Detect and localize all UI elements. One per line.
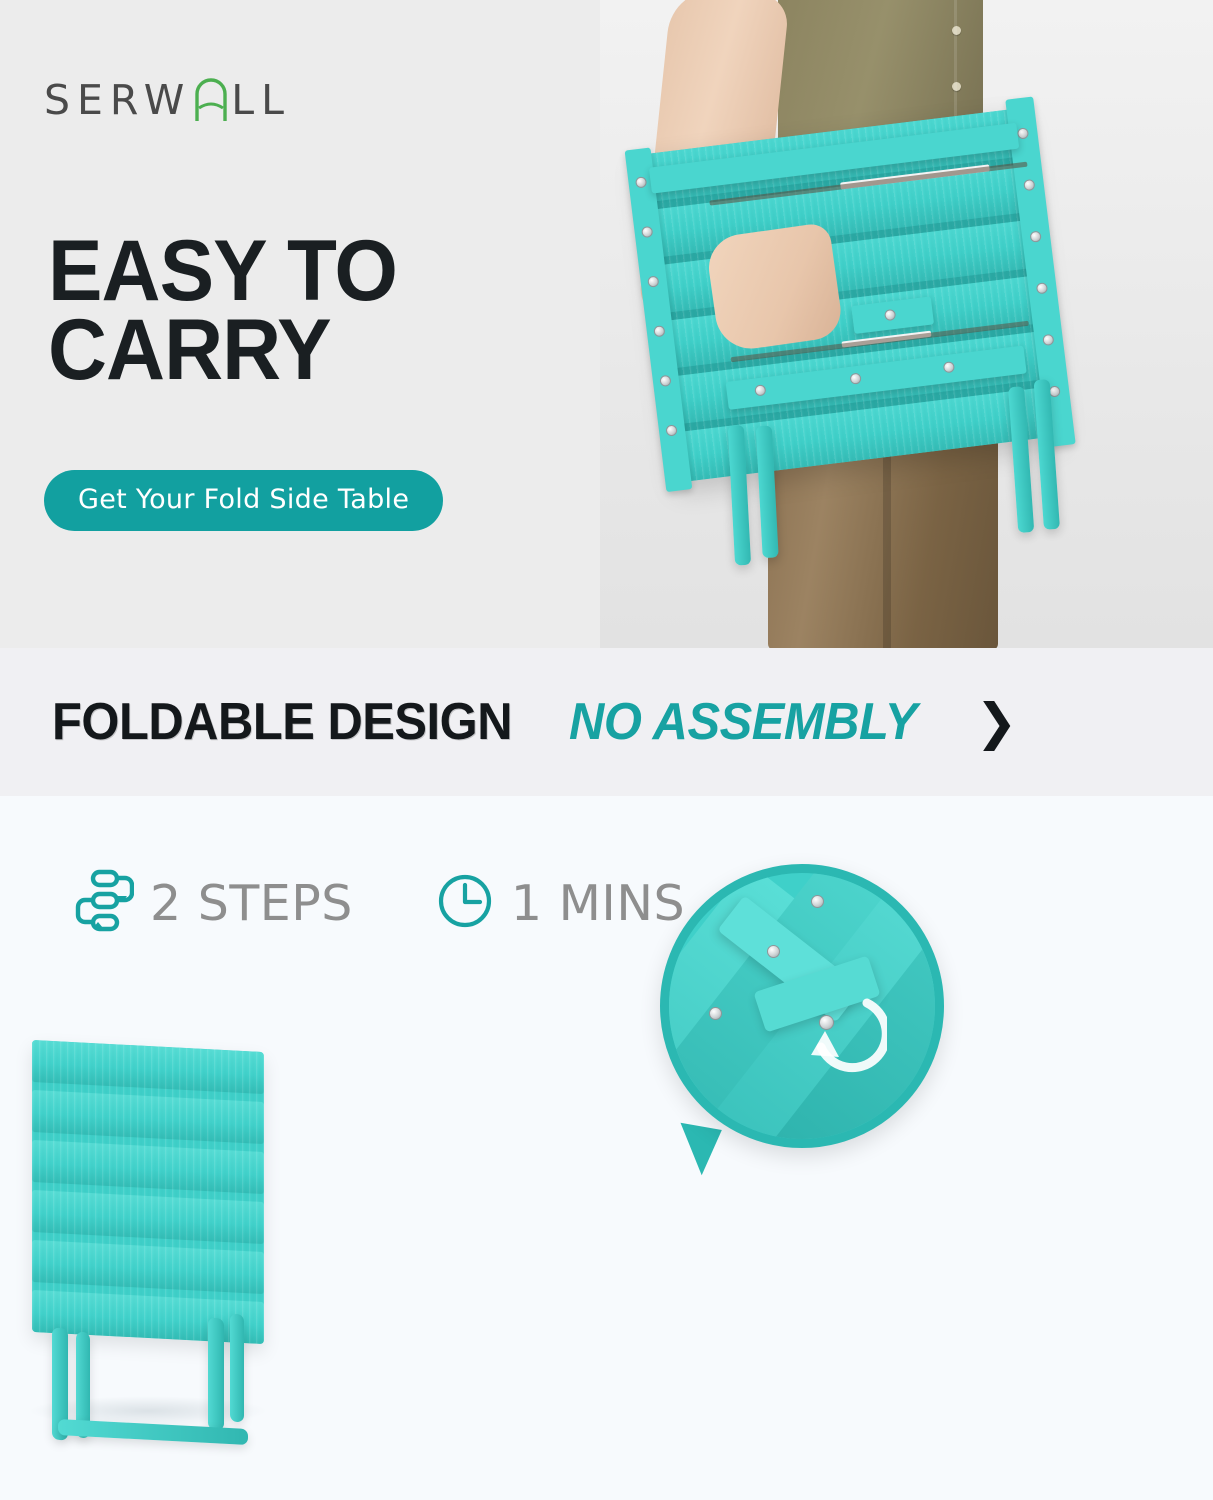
headline-line-2: CARRY [48,311,397,390]
stage-folded-table [18,1046,278,1416]
folded-leg [208,1317,224,1430]
arch-a-icon [193,78,229,122]
steps-section: 2 STEPS 1 MINS [0,796,1213,1500]
brand-logo[interactable]: SERW LL [44,78,291,121]
hero-headline: EASY TO CARRY [48,232,397,390]
metric-time: 1 MINS [435,871,685,936]
brand-logo-text-right: LL [231,80,291,121]
product-marketing-image: SERW LL EASY TO CARRY Get Your Fold Side… [0,0,1213,1500]
chevron-right-icon[interactable]: ❯ [975,697,1017,747]
hero-section: SERW LL EASY TO CARRY Get Your Fold Side… [0,0,1213,648]
rotate-arrow-icon [795,985,887,1077]
foldable-design-banner: FOLDABLE DESIGN NO ASSEMBLY ❯ [0,648,1213,796]
pivot-lock-callout [660,864,944,1148]
folded-leg [230,1314,244,1423]
clock-icon [435,871,495,936]
steps-flow-icon [72,868,134,939]
banner-bold-text: FOLDABLE DESIGN [52,692,512,752]
hero-photo [600,0,1213,648]
metrics-row: 2 STEPS 1 MINS [72,868,685,939]
metric-steps-label: 2 STEPS [150,875,353,932]
shirt-button [952,26,961,35]
banner-italic-text: NO ASSEMBLY [569,692,917,752]
headline-line-1: EASY TO [48,232,397,311]
cta-button[interactable]: Get Your Fold Side Table [44,470,443,531]
folded-table-hero [600,82,1127,608]
metric-steps: 2 STEPS [72,868,353,939]
brand-logo-text-left: SERW [44,80,191,121]
callout-circle [660,864,944,1148]
shirt-button [952,82,961,91]
model-hand [705,222,845,353]
cta-button-label: Get Your Fold Side Table [78,484,409,515]
folded-table-panel [32,1040,264,1344]
